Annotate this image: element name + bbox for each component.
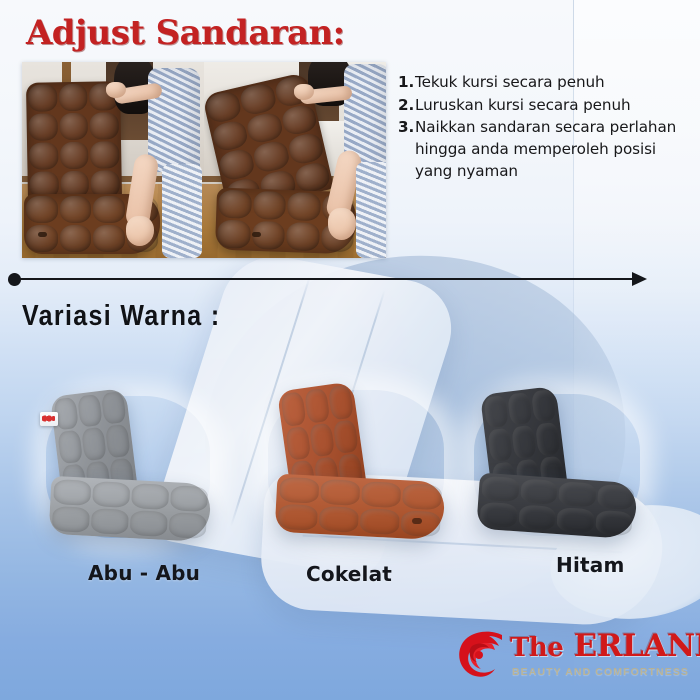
arrow-divider bbox=[8, 272, 660, 286]
arrow-head-icon bbox=[632, 272, 647, 286]
seat-tufting bbox=[49, 476, 212, 542]
list-item: 1. Tekuk kursi secara penuh bbox=[398, 72, 678, 94]
brand-word: ERLAND bbox=[574, 628, 700, 664]
chair-backrest bbox=[26, 81, 122, 201]
brand-tagline: BEAUTY AND COMFORTNESS bbox=[512, 666, 689, 678]
step-text: Tekuk kursi secara penuh bbox=[415, 72, 678, 94]
color-label-hitam: Hitam bbox=[556, 553, 625, 577]
phoenix-emblem-icon bbox=[452, 626, 508, 682]
photo-chair-reclined bbox=[204, 62, 386, 258]
step-text: Naikkan sandaran secara perlahan hingga … bbox=[415, 117, 678, 182]
instruction-photo-strip bbox=[22, 62, 386, 258]
brand-prefix: The bbox=[510, 633, 563, 663]
step-number: 1. bbox=[398, 72, 415, 94]
divider-line bbox=[19, 278, 639, 280]
chair-adjust-knob bbox=[252, 232, 261, 237]
brand-logo: The ERLAND BEAUTY AND COMFORTNESS bbox=[452, 620, 688, 692]
brand-name: The ERLAND bbox=[510, 628, 700, 664]
chair-seat bbox=[275, 474, 446, 541]
step-text: Luruskan kursi secara penuh bbox=[415, 95, 678, 117]
instruction-steps-list: 1. Tekuk kursi secara penuh 2. Luruskan … bbox=[398, 72, 678, 184]
photo-chair-upright bbox=[22, 62, 204, 258]
section-title: Variasi Warna : bbox=[22, 300, 221, 333]
chair-seat bbox=[476, 473, 638, 540]
page-title: Adjust Sandaran: bbox=[26, 13, 345, 53]
product-chair-abu-abu bbox=[40, 392, 220, 544]
step-number: 3. bbox=[398, 117, 415, 182]
seat-tufting bbox=[476, 473, 638, 540]
person-leg bbox=[356, 162, 386, 258]
color-label-cokelat: Cokelat bbox=[306, 562, 392, 586]
product-chair-cokelat bbox=[262, 386, 452, 542]
seat-tufting bbox=[275, 474, 446, 541]
chair-adjust-knob bbox=[38, 232, 47, 237]
product-chair-hitam bbox=[470, 390, 650, 540]
color-label-abu-abu: Abu - Abu bbox=[88, 561, 200, 585]
product-infographic-poster: Adjust Sandaran: bbox=[0, 0, 700, 700]
chair-seat bbox=[49, 476, 212, 542]
list-item: 3. Naikkan sandaran secara perlahan hing… bbox=[398, 117, 678, 182]
list-item: 2. Luruskan kursi secara penuh bbox=[398, 95, 678, 117]
chair-adjust-knob bbox=[412, 518, 422, 524]
backrest-tufting bbox=[26, 81, 122, 201]
person-leg bbox=[162, 164, 202, 258]
step-number: 2. bbox=[398, 95, 415, 117]
product-tag bbox=[40, 412, 58, 426]
